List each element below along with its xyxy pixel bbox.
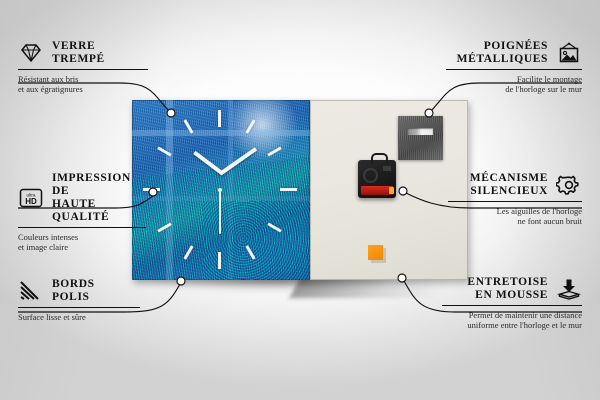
callout-title: ENTRETOISE EN MOUSSE bbox=[442, 276, 548, 302]
callout-subtitle: Facilite le montage de l'horloge sur le … bbox=[446, 74, 582, 95]
callout-subtitle: Les aiguilles de l'horloge ne font aucun… bbox=[448, 206, 582, 227]
callout-rule bbox=[18, 307, 140, 308]
svg-text:HD: HD bbox=[25, 197, 37, 206]
callout-header: ultra HD IMPRESSION DE HAUTE QUALITÉ bbox=[18, 172, 146, 224]
callout-subtitle: Surface lisse et sûre bbox=[18, 312, 140, 323]
callout-header: ENTRETOISE EN MOUSSE bbox=[442, 276, 582, 302]
callout-poignees-metalliques: POIGNÉES MÉTALLIQUES Facilite le montage… bbox=[446, 40, 582, 95]
callout-header: MÉCANISME SILENCIEUX bbox=[448, 172, 582, 198]
mechanism-dial bbox=[363, 168, 378, 183]
second-hand bbox=[219, 190, 221, 234]
callout-impression-haute-qualite: ultra HD IMPRESSION DE HAUTE QUALITÉ Cou… bbox=[18, 172, 146, 253]
callout-bords-polis: BORDS POLIS Surface lisse et sûre bbox=[18, 278, 140, 322]
callout-rule bbox=[442, 305, 582, 306]
foam-spacer-part bbox=[368, 245, 383, 260]
callout-title: MÉCANISME SILENCIEUX bbox=[448, 172, 548, 198]
hour-marker bbox=[218, 110, 221, 127]
metal-hanger-part bbox=[398, 116, 443, 160]
mechanism-chip bbox=[383, 166, 391, 171]
battery bbox=[361, 186, 393, 195]
clock-back-panel bbox=[310, 100, 468, 280]
gear-icon bbox=[556, 174, 582, 196]
hour-marker bbox=[280, 188, 297, 191]
hanger-slot bbox=[408, 128, 433, 135]
pattern-line bbox=[132, 130, 310, 136]
callout-rule bbox=[18, 69, 148, 70]
hands-hub bbox=[218, 188, 222, 192]
callout-header: POIGNÉES MÉTALLIQUES bbox=[446, 40, 582, 66]
diamond-icon bbox=[18, 42, 44, 64]
arrow-down-onto-pad-icon bbox=[556, 278, 582, 300]
callout-rule bbox=[446, 69, 582, 70]
callout-header: BORDS POLIS bbox=[18, 278, 140, 304]
polished-edge-icon bbox=[18, 280, 44, 302]
callout-subtitle: Couleurs intenses et image claire bbox=[18, 232, 146, 253]
framed-picture-hanging-icon bbox=[556, 42, 582, 64]
hour-marker bbox=[218, 252, 221, 269]
product-photo bbox=[132, 100, 468, 282]
callout-verre-trempe: VERRE TREMPÉ Résistant aux bris et aux é… bbox=[18, 40, 148, 95]
callout-title: IMPRESSION DE HAUTE QUALITÉ bbox=[52, 172, 146, 224]
callout-entretoise-en-mousse: ENTRETOISE EN MOUSSE Permet de maintenir… bbox=[442, 276, 582, 331]
mechanism-hook bbox=[371, 153, 388, 164]
ultra-hd-icon: ultra HD bbox=[18, 187, 44, 209]
callout-title: BORDS POLIS bbox=[52, 278, 95, 304]
callout-mecanisme-silencieux: MÉCANISME SILENCIEUX Les aiguilles de l'… bbox=[448, 172, 582, 227]
callout-rule bbox=[18, 227, 146, 228]
callout-title: VERRE TREMPÉ bbox=[52, 40, 105, 66]
callout-title: POIGNÉES MÉTALLIQUES bbox=[446, 40, 548, 66]
clock-front-panel bbox=[132, 100, 310, 280]
callout-rule bbox=[448, 201, 582, 202]
callout-header: VERRE TREMPÉ bbox=[18, 40, 148, 66]
clock-mechanism-part bbox=[358, 160, 396, 198]
infographic-canvas: VERRE TREMPÉ Résistant aux bris et aux é… bbox=[0, 0, 600, 400]
callout-subtitle: Permet de maintenir une distance uniform… bbox=[442, 310, 582, 331]
callout-subtitle: Résistant aux bris et aux égratignures bbox=[18, 74, 148, 95]
